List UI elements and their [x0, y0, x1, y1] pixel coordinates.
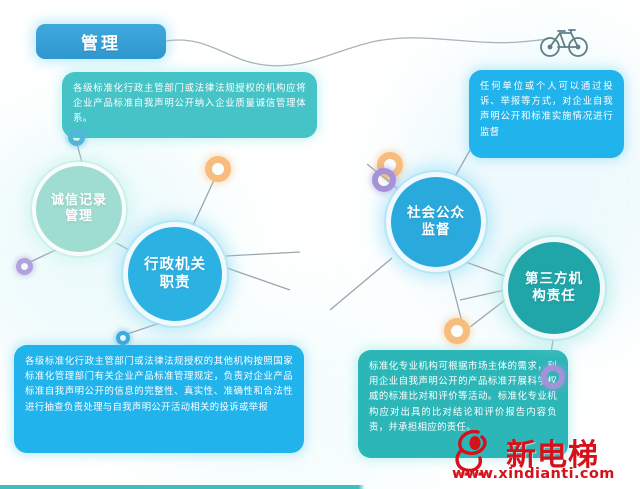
wire-admin-to-ring-b2 [127, 322, 163, 334]
wire-ring-o1-to-admin [190, 180, 214, 232]
wire-public-to-ring-o2 [448, 268, 462, 322]
node-ring-blue-icon [68, 129, 85, 146]
node-ring-orange-icon [205, 156, 231, 182]
bubble-credit-record: 各级标准化行政主管部门或法律法规授权的机构应将企业产品标准自我声明公开纳入企业质… [62, 72, 317, 138]
wire-public-to-lower-left [330, 258, 392, 310]
bubble-text: 任何单位或个人可以通过投诉、举报等方式，对企业自我声明公开和标准实施情况进行监督 [480, 81, 613, 138]
header-label: 管理 [81, 29, 121, 54]
node-ring-purple-icon [16, 258, 33, 275]
hub-label: 诚信记录 管理 [51, 193, 107, 226]
node-ring-purple-icon [541, 365, 565, 389]
hub-administrative-authority-duty[interactable]: 行政机关 职责 [123, 222, 227, 326]
hub-public-supervision[interactable]: 社会公众 监督 [386, 172, 486, 272]
bubble-administrative-duty: 各级标准化行政主管部门或法律法规授权的其他机构按照国家标准化管理部门有关企业产品… [14, 345, 304, 453]
node-ring-purple-icon [372, 168, 396, 192]
hub-label: 社会公众 监督 [407, 205, 465, 239]
watermark-url: www.xindianti.com [452, 466, 615, 482]
infographic-canvas: 管理 各级标准化行政主管部门或法律法规授权的机构应将企业产品标准自我声明公开纳入… [0, 0, 640, 489]
node-ring-orange-icon [444, 318, 470, 344]
watermark: 新电梯 www.xindianti.com [440, 428, 636, 486]
bubble-text: 标准化专业机构可根据市场主体的需求，利用企业自我声明公开的产品标准开展科学权威的… [369, 361, 557, 433]
wire-third-to-left [460, 290, 505, 300]
bubble-text: 各级标准化行政主管部门或法律法规授权的机构应将企业产品标准自我声明公开纳入企业质… [73, 83, 306, 124]
wire-ring-o2-to-third [470, 300, 505, 327]
bicycle-icon [538, 23, 590, 59]
wire-admin-to-public [226, 252, 300, 256]
wire-header-to-bike [166, 38, 548, 66]
node-ring-blue-icon [116, 331, 130, 345]
hub-label: 第三方机 构责任 [525, 271, 583, 305]
hub-credit-record-management[interactable]: 诚信记录 管理 [32, 162, 126, 256]
wire-public-to-third [463, 261, 510, 278]
bottom-accent-strip [0, 485, 640, 489]
header-pill[interactable]: 管理 [36, 24, 166, 59]
hub-label: 行政机关 职责 [144, 256, 206, 292]
hub-third-party-responsibility[interactable]: 第三方机 构责任 [503, 237, 605, 339]
bubble-public-supervision: 任何单位或个人可以通过投诉、举报等方式，对企业自我声明公开和标准实施情况进行监督 [469, 70, 624, 158]
wire-admin-to-right [227, 268, 290, 290]
bubble-text: 各级标准化行政主管部门或法律法规授权的其他机构按照国家标准化管理部门有关企业产品… [25, 356, 293, 413]
